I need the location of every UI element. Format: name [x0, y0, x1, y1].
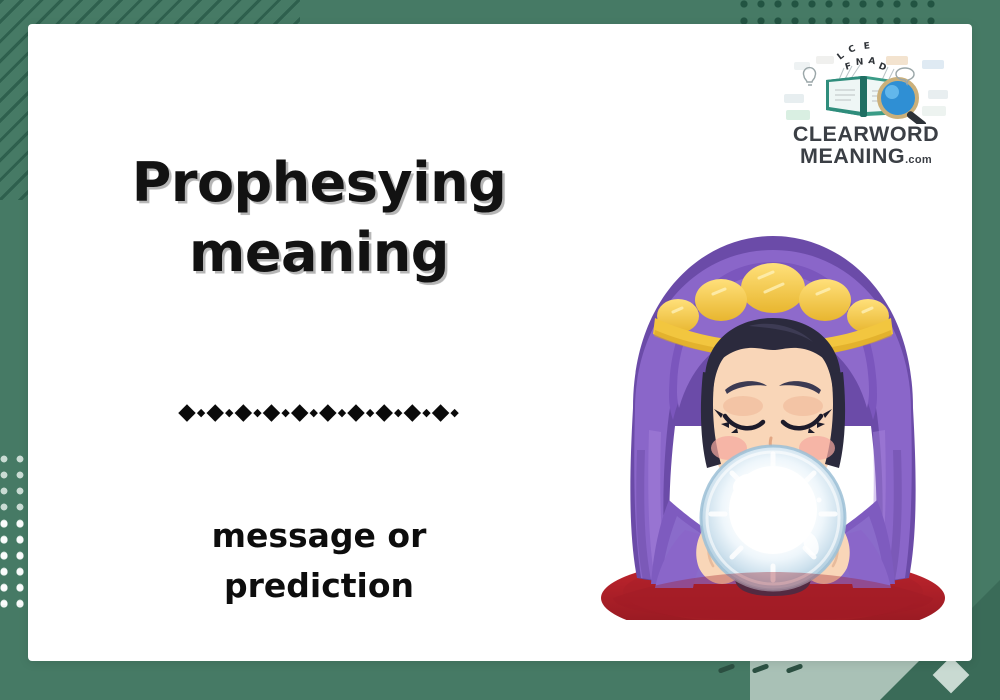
diamond-small-icon: ◆	[310, 407, 319, 419]
page-title-line1: Prophesying	[84, 148, 554, 218]
logo-brand-line2-wrapper: MEANING.com	[782, 146, 950, 168]
page-title-line2: meaning	[84, 218, 554, 288]
poster-canvas: L C E F N A D	[0, 0, 1000, 700]
definition-text: message or prediction	[84, 511, 554, 611]
content-card: L C E F N A D	[28, 24, 972, 661]
svg-text:A: A	[867, 56, 876, 67]
dash-marks-decoration	[718, 666, 838, 680]
definition-line1: message or	[84, 511, 554, 561]
svg-text:E: E	[863, 41, 870, 52]
diamond-icon: ◆	[291, 398, 310, 424]
logo-brand-line1: CLEARWORD	[782, 124, 950, 146]
svg-text:C: C	[847, 44, 857, 56]
logo-tld: .com	[905, 154, 932, 166]
dot-grid-decoration-left-lower	[0, 520, 30, 610]
diamond-small-icon: ◆	[197, 407, 206, 419]
diamond-small-icon: ◆	[450, 407, 459, 419]
diamond-icon: ◆	[178, 398, 197, 424]
diamond-small-icon: ◆	[253, 407, 262, 419]
diamond-divider: ◆◆◆◆◆◆◆◆◆◆◆◆◆◆◆◆◆◆◆◆	[84, 400, 554, 423]
diamond-small-icon: ◆	[394, 407, 403, 419]
diamond-small-icon: ◆	[366, 407, 375, 419]
logo-brand-line2: MEANING	[800, 144, 905, 168]
diamond-icon: ◆	[206, 398, 225, 424]
diamond-small-icon: ◆	[338, 407, 347, 419]
diamond-icon: ◆	[404, 398, 423, 424]
diamond-icon: ◆	[263, 398, 282, 424]
diamond-small-icon: ◆	[422, 407, 431, 419]
diamond-icon: ◆	[347, 398, 366, 424]
site-logo[interactable]: L C E F N A D	[782, 38, 950, 168]
diamond-icon: ◆	[375, 398, 394, 424]
logo-book-magnifier-icon: L C E F N A D	[782, 38, 950, 124]
fortune-teller-illustration	[573, 200, 972, 620]
diamond-icon: ◆	[234, 398, 253, 424]
svg-text:L: L	[836, 51, 847, 63]
diamond-small-icon: ◆	[281, 407, 290, 419]
page-title: Prophesying meaning	[84, 148, 554, 288]
definition-line2: prediction	[84, 561, 554, 611]
diamond-icon: ◆	[319, 398, 338, 424]
diamond-icon: ◆	[432, 398, 451, 424]
